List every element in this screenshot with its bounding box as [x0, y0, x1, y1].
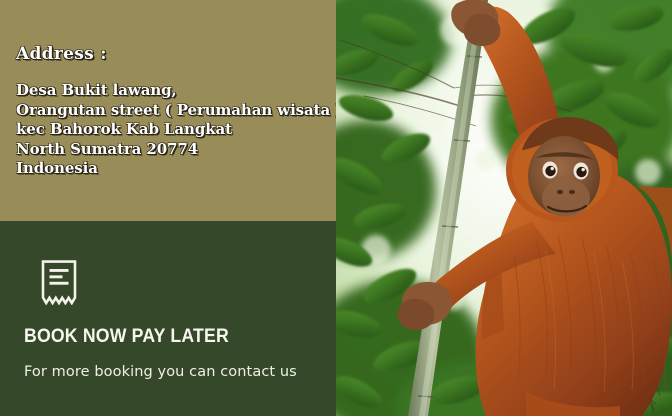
booking-panel: BOOK NOW PAY LATER For more booking you …	[0, 221, 336, 416]
address-line: Desa Bukit lawang,	[16, 81, 324, 101]
address-line: North Sumatra 20774	[16, 140, 324, 160]
address-line: Indonesia	[16, 159, 324, 179]
address-panel: Address : Desa Bukit lawang, Orangutan s…	[0, 0, 336, 221]
orangutan-photo	[336, 0, 672, 416]
booking-title: BOOK NOW PAY LATER	[24, 327, 303, 346]
address-line: kec Bahorok Kab Langkat	[16, 120, 324, 140]
left-content-column: Address : Desa Bukit lawang, Orangutan s…	[0, 0, 336, 416]
address-lines-list: Desa Bukit lawang, Orangutan street ( Pe…	[16, 81, 324, 179]
address-heading: Address :	[16, 46, 324, 63]
receipt-icon	[40, 260, 78, 305]
promo-banner: Address : Desa Bukit lawang, Orangutan s…	[0, 0, 672, 416]
address-line: Orangutan street ( Perumahan wisata )	[16, 101, 324, 121]
booking-subtitle: For more booking you can contact us	[24, 365, 324, 380]
